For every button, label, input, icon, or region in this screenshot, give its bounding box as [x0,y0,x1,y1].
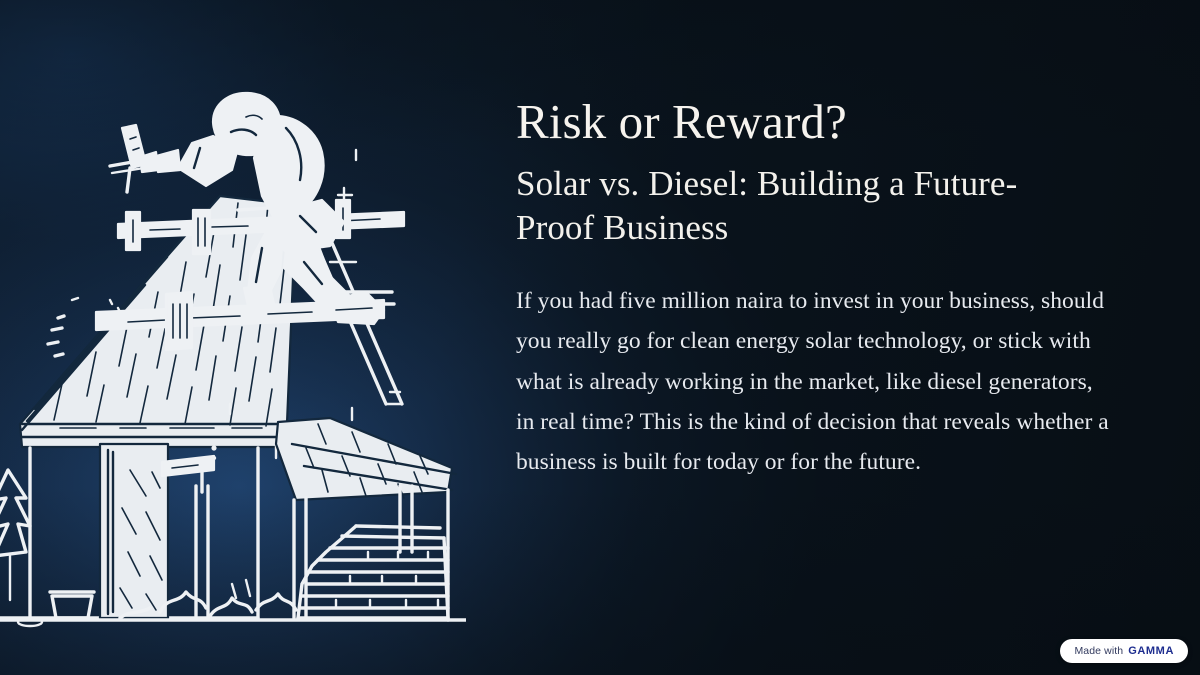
slide-body-text: If you had five million naira to invest … [516,281,1116,483]
woodshed [162,418,456,620]
illustration-svg: .st { fill:none; stroke:#eef1f4; stroke-… [0,0,466,628]
badge-gamma-wordmark: GAMMA [1128,645,1174,657]
slide-title: Risk or Reward? [516,96,1116,148]
house-body [0,444,258,618]
slide-canvas: .st { fill:none; stroke:#eef1f4; stroke-… [0,0,1200,675]
badge-made-with-label: Made with [1074,645,1123,657]
slide-subtitle: Solar vs. Diesel: Building a Future-Proo… [516,162,1076,251]
made-with-gamma-badge[interactable]: Made with GAMMA [1060,639,1188,663]
text-column: Risk or Reward? Solar vs. Diesel: Buildi… [516,96,1116,483]
rooftop-worker-illustration: .st { fill:none; stroke:#eef1f4; stroke-… [0,0,466,628]
ground-foliage [0,580,466,620]
firewood-stack [298,526,448,618]
pine-tree [0,470,30,600]
